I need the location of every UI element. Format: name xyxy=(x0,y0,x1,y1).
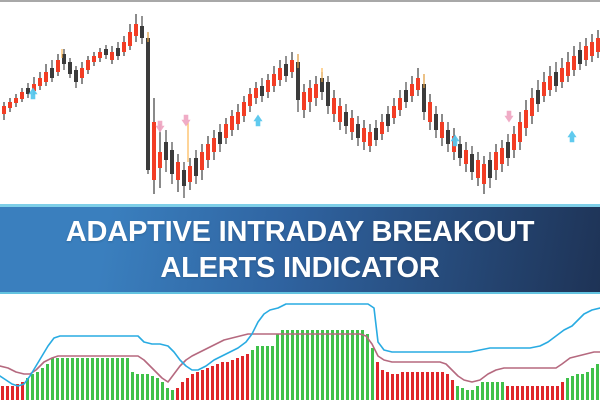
candle-body xyxy=(404,90,408,102)
candlestick xyxy=(476,152,480,186)
candle-body xyxy=(386,114,390,126)
histogram-bar xyxy=(346,330,349,400)
histogram-bar xyxy=(46,364,49,400)
histogram-bar xyxy=(326,330,329,400)
candle-body xyxy=(482,164,486,184)
candlestick xyxy=(272,66,276,92)
candlestick xyxy=(494,144,498,180)
histogram-bar xyxy=(441,372,444,400)
candle-body xyxy=(572,56,576,70)
candle-body xyxy=(152,122,156,180)
candle-body xyxy=(476,160,480,178)
histogram-bar xyxy=(186,378,189,400)
candlestick xyxy=(446,122,450,152)
histogram-bar xyxy=(61,358,64,400)
candle-body xyxy=(2,106,6,114)
candlestick xyxy=(254,82,258,104)
candle-body xyxy=(224,124,228,138)
histogram-bar xyxy=(221,362,224,400)
histogram-bar xyxy=(166,388,169,400)
candlestick xyxy=(236,104,240,130)
candle-body xyxy=(176,162,180,180)
histogram-bar xyxy=(416,372,419,400)
candlestick xyxy=(308,80,312,112)
histogram-bar xyxy=(331,330,334,400)
candle-body xyxy=(302,92,306,110)
candle-body xyxy=(116,48,120,56)
candle-body xyxy=(134,24,138,36)
candle-body xyxy=(524,110,528,128)
candle-body xyxy=(140,26,144,38)
histogram-bar xyxy=(246,354,249,400)
histogram-bar xyxy=(366,334,369,400)
candle-body xyxy=(410,84,414,96)
candle-body xyxy=(218,132,222,144)
candlestick xyxy=(584,38,588,66)
candle-body xyxy=(68,62,72,74)
histogram-bar xyxy=(51,358,54,400)
candlestick xyxy=(506,134,510,166)
candle-body xyxy=(590,42,594,56)
candlestick xyxy=(200,144,204,180)
histogram-bar xyxy=(591,368,594,400)
candlestick xyxy=(290,52,294,78)
candlestick xyxy=(380,114,384,140)
histogram-bar xyxy=(481,382,484,400)
candlestick xyxy=(590,34,594,62)
histogram-bar xyxy=(261,346,264,400)
title-line-2: ALERTS INDICATOR xyxy=(160,250,439,286)
histogram-bar xyxy=(536,386,539,400)
histogram-bar xyxy=(486,382,489,400)
candle-body xyxy=(212,138,216,152)
histogram-bar xyxy=(446,374,449,400)
histogram-bar xyxy=(266,346,269,400)
candlestick xyxy=(326,76,330,114)
histogram-bar xyxy=(141,374,144,400)
candle-body xyxy=(194,158,198,176)
candle-body xyxy=(356,124,360,138)
candlestick-chart xyxy=(0,2,600,207)
candle-body xyxy=(530,98,534,116)
candle-body xyxy=(236,112,240,124)
candle-body xyxy=(380,122,384,134)
candlestick xyxy=(278,60,282,86)
histogram-bar xyxy=(181,382,184,400)
candlestick xyxy=(182,162,186,198)
candlestick xyxy=(536,80,540,112)
histogram-bar xyxy=(146,374,149,400)
histogram-bar xyxy=(501,382,504,400)
histogram-bar xyxy=(81,358,84,400)
histogram-bar xyxy=(41,368,44,400)
sell-signal-arrow-icon xyxy=(156,121,164,132)
candle-body xyxy=(446,130,450,144)
candle-body xyxy=(332,98,336,114)
histogram-bar xyxy=(311,330,314,400)
candle-body xyxy=(242,102,246,116)
candlestick xyxy=(26,83,30,98)
candlestick xyxy=(464,142,468,172)
candlestick xyxy=(434,106,438,138)
candle-body xyxy=(110,52,114,60)
candle-body xyxy=(314,84,318,98)
histogram-bar xyxy=(321,330,324,400)
candle-body xyxy=(362,128,366,142)
candlestick xyxy=(152,98,156,194)
buy-signal-arrow-icon xyxy=(254,115,262,126)
breakout-histogram-chart xyxy=(0,294,600,400)
candlestick xyxy=(542,72,546,102)
histogram-bar xyxy=(296,330,299,400)
candlestick xyxy=(482,156,486,194)
candlestick xyxy=(140,16,144,44)
histogram-bar xyxy=(86,358,89,400)
histogram-bar xyxy=(281,330,284,400)
candle-body xyxy=(230,116,234,130)
candle-body xyxy=(266,80,270,92)
candle-body xyxy=(128,32,132,46)
histogram-bar xyxy=(71,358,74,400)
candle-body xyxy=(416,78,420,90)
candlestick xyxy=(488,152,492,188)
candle-body xyxy=(494,152,498,170)
candlestick xyxy=(2,102,6,120)
candlestick xyxy=(8,98,12,112)
candle-body xyxy=(260,86,264,96)
candle-body xyxy=(50,68,54,78)
histogram-bar xyxy=(101,358,104,400)
histogram-bar xyxy=(576,374,579,400)
histogram-bar xyxy=(306,330,309,400)
candlestick xyxy=(146,32,150,174)
histogram-bar xyxy=(31,374,34,400)
histogram-bar xyxy=(531,386,534,400)
candle-body xyxy=(200,152,204,170)
candlestick xyxy=(74,66,78,88)
candlestick xyxy=(386,106,390,132)
candlestick xyxy=(188,158,192,190)
candlestick xyxy=(368,124,372,152)
histogram-bar xyxy=(411,372,414,400)
candlestick xyxy=(248,88,252,112)
histogram-bar xyxy=(316,330,319,400)
candle-body xyxy=(254,88,258,98)
candle-body xyxy=(308,88,312,102)
candle-body xyxy=(512,134,516,150)
histogram-bar xyxy=(561,382,564,400)
candle-body xyxy=(422,84,426,112)
histogram-bar xyxy=(121,358,124,400)
histogram-bar xyxy=(471,390,474,400)
title-line-1: ADAPTIVE INTRADAY BREAKOUT xyxy=(66,214,535,250)
candlestick xyxy=(524,100,528,136)
candlestick xyxy=(242,96,246,122)
candle-body xyxy=(104,49,108,55)
title-banner: ADAPTIVE INTRADAY BREAKOUT ALERTS INDICA… xyxy=(0,204,600,294)
histogram-bar xyxy=(401,372,404,400)
histogram-bar xyxy=(581,374,584,400)
candle-body xyxy=(170,150,174,174)
histogram-bar xyxy=(491,382,494,400)
indicator-histogram-panel xyxy=(0,294,600,400)
histogram-bar xyxy=(351,330,354,400)
histogram-bar xyxy=(206,368,209,400)
histogram-bar xyxy=(516,386,519,400)
histogram-bar xyxy=(276,334,279,400)
histogram-bar xyxy=(391,374,394,400)
candle-body xyxy=(566,62,570,76)
histogram-bar xyxy=(596,364,599,400)
candlestick xyxy=(68,58,72,78)
candlestick xyxy=(440,114,444,146)
lower-band-line xyxy=(0,334,600,382)
candle-body xyxy=(584,46,588,60)
candle-body xyxy=(458,144,462,158)
candle-body xyxy=(428,102,432,122)
histogram-bar xyxy=(66,358,69,400)
candle-body xyxy=(80,68,84,78)
histogram-bar xyxy=(551,386,554,400)
histogram-bar xyxy=(556,386,559,400)
candlestick xyxy=(170,142,174,184)
candlestick xyxy=(410,76,414,102)
candlestick xyxy=(512,126,516,158)
histogram-bar xyxy=(546,386,549,400)
candlestick xyxy=(572,46,576,76)
histogram-bar xyxy=(586,372,589,400)
histogram-bar xyxy=(426,372,429,400)
candle-body xyxy=(284,64,288,76)
candlestick xyxy=(50,60,54,82)
histogram-bar xyxy=(96,358,99,400)
histogram-bar xyxy=(466,390,469,400)
histogram-bar xyxy=(236,358,239,400)
candle-body xyxy=(518,122,522,142)
candle-body xyxy=(554,72,558,86)
histogram-bar xyxy=(56,358,59,400)
candlestick xyxy=(578,42,582,70)
histogram-bar xyxy=(506,386,509,400)
candlestick xyxy=(398,90,402,116)
candlestick xyxy=(530,88,534,124)
candlestick xyxy=(260,78,264,102)
histogram-bar xyxy=(106,358,109,400)
histogram-bar xyxy=(511,386,514,400)
candle-body xyxy=(182,170,186,186)
candlestick xyxy=(44,64,48,86)
histogram-bar xyxy=(436,372,439,400)
histogram-bar xyxy=(136,374,139,400)
candle-body xyxy=(434,114,438,130)
candle-body xyxy=(350,118,354,132)
candlestick xyxy=(416,68,420,96)
histogram-bar xyxy=(91,358,94,400)
candlestick xyxy=(218,124,222,152)
candle-body xyxy=(98,52,102,58)
candlestick xyxy=(134,14,138,42)
candlestick xyxy=(110,46,114,64)
histogram-bar xyxy=(196,372,199,400)
histogram-bar xyxy=(116,358,119,400)
sell-signal-arrow-icon xyxy=(505,111,513,122)
candle-body xyxy=(542,82,546,96)
candlestick xyxy=(104,45,108,59)
candlestick xyxy=(392,98,396,124)
buy-signal-arrow-icon xyxy=(568,131,576,142)
candlestick xyxy=(266,74,270,98)
candlestick xyxy=(596,30,600,58)
candlestick xyxy=(428,94,432,130)
candle-body xyxy=(290,60,294,72)
candlestick xyxy=(374,120,378,146)
histogram-bar xyxy=(271,346,274,400)
candle-body xyxy=(548,76,552,90)
histogram-bar xyxy=(76,358,79,400)
candlestick xyxy=(560,58,564,88)
histogram-bar xyxy=(211,366,214,400)
histogram-bar xyxy=(6,386,9,400)
candle-body xyxy=(122,42,126,52)
histogram-bar xyxy=(251,350,254,400)
candle-body xyxy=(92,56,96,62)
screenshot-root: ADAPTIVE INTRADAY BREAKOUT ALERTS INDICA… xyxy=(0,0,600,400)
histogram-bar xyxy=(571,376,574,400)
histogram-bar xyxy=(1,386,4,400)
histogram-bar xyxy=(36,372,39,400)
candle-body xyxy=(500,148,504,164)
candle-body xyxy=(20,92,24,99)
candlestick xyxy=(518,112,522,150)
candlestick xyxy=(356,116,360,146)
candle-body xyxy=(506,142,510,158)
histogram-bar xyxy=(286,330,289,400)
candlestick xyxy=(92,52,96,66)
histogram-bar xyxy=(526,386,529,400)
histogram-bar xyxy=(376,362,379,400)
candle-body xyxy=(278,68,282,80)
histogram-bar xyxy=(421,372,424,400)
candlestick xyxy=(284,56,288,82)
candlestick xyxy=(164,130,168,172)
candlestick xyxy=(194,150,198,184)
candlestick xyxy=(338,98,342,130)
candlestick xyxy=(566,52,570,82)
candle-body xyxy=(158,152,162,168)
candlestick xyxy=(20,88,24,102)
histogram-bar xyxy=(176,388,179,400)
candle-body xyxy=(188,166,192,182)
histogram-bar xyxy=(171,390,174,400)
candlestick xyxy=(86,56,90,74)
candle-body xyxy=(326,82,330,106)
candle-body xyxy=(272,74,276,86)
candle-body xyxy=(488,160,492,178)
candle-body xyxy=(74,70,78,82)
candle-body xyxy=(146,38,150,170)
candle-body xyxy=(8,102,12,108)
histogram-bar xyxy=(386,372,389,400)
histogram-bar xyxy=(301,330,304,400)
candlestick xyxy=(332,90,336,122)
histogram-bar xyxy=(341,330,344,400)
histogram-bar xyxy=(151,376,154,400)
histogram-bar xyxy=(371,348,374,400)
candle-body xyxy=(536,90,540,104)
candle-body xyxy=(560,68,564,82)
histogram-bar xyxy=(451,380,454,400)
candle-body xyxy=(14,98,18,103)
histogram-bar xyxy=(131,372,134,400)
sell-signal-arrow-icon xyxy=(182,115,190,126)
candle-body xyxy=(248,94,252,106)
candlestick xyxy=(470,146,474,180)
candlestick xyxy=(98,48,102,62)
histogram-bar xyxy=(521,386,524,400)
candlestick xyxy=(344,104,348,134)
candle-body xyxy=(470,154,474,172)
candlestick xyxy=(548,66,552,96)
histogram-bar xyxy=(161,382,164,400)
upper-band-line xyxy=(0,304,600,386)
histogram-bar xyxy=(541,386,544,400)
candlestick xyxy=(500,140,504,172)
histogram-bar xyxy=(461,388,464,400)
histogram-bar xyxy=(11,386,14,400)
candle-body xyxy=(338,106,342,122)
candlestick xyxy=(302,84,306,118)
candlestick xyxy=(38,72,42,90)
candlestick xyxy=(176,154,180,192)
candlestick xyxy=(158,124,162,188)
histogram-bar xyxy=(256,346,259,400)
candle-body xyxy=(44,72,48,82)
histogram-bar xyxy=(191,374,194,400)
candle-body xyxy=(86,60,90,70)
candle-body xyxy=(344,112,348,126)
candle-body xyxy=(464,150,468,164)
candle-body xyxy=(578,50,582,64)
histogram-bar xyxy=(291,330,294,400)
candle-body xyxy=(164,142,168,160)
histogram-bar xyxy=(126,358,129,400)
price-chart-panel xyxy=(0,2,600,207)
histogram-bar xyxy=(156,378,159,400)
histogram-bar xyxy=(381,370,384,400)
candlestick xyxy=(314,76,318,106)
candlestick xyxy=(350,110,354,140)
candle-body xyxy=(56,60,60,72)
candlestick xyxy=(128,24,132,50)
candlestick xyxy=(554,62,558,92)
candle-body xyxy=(374,128,378,140)
histogram-bar xyxy=(396,374,399,400)
candlestick xyxy=(230,110,234,136)
histogram-bar xyxy=(476,386,479,400)
candlestick xyxy=(80,62,84,84)
candlestick xyxy=(14,94,18,107)
histogram-bar xyxy=(431,372,434,400)
histogram-bar xyxy=(216,364,219,400)
histogram-bar xyxy=(111,358,114,400)
histogram-bar xyxy=(406,372,409,400)
candlestick xyxy=(56,54,60,76)
histogram-bar xyxy=(336,330,339,400)
histogram-bar xyxy=(566,378,569,400)
candlestick xyxy=(116,42,120,60)
candle-body xyxy=(392,106,396,118)
histogram-bar xyxy=(226,362,229,400)
